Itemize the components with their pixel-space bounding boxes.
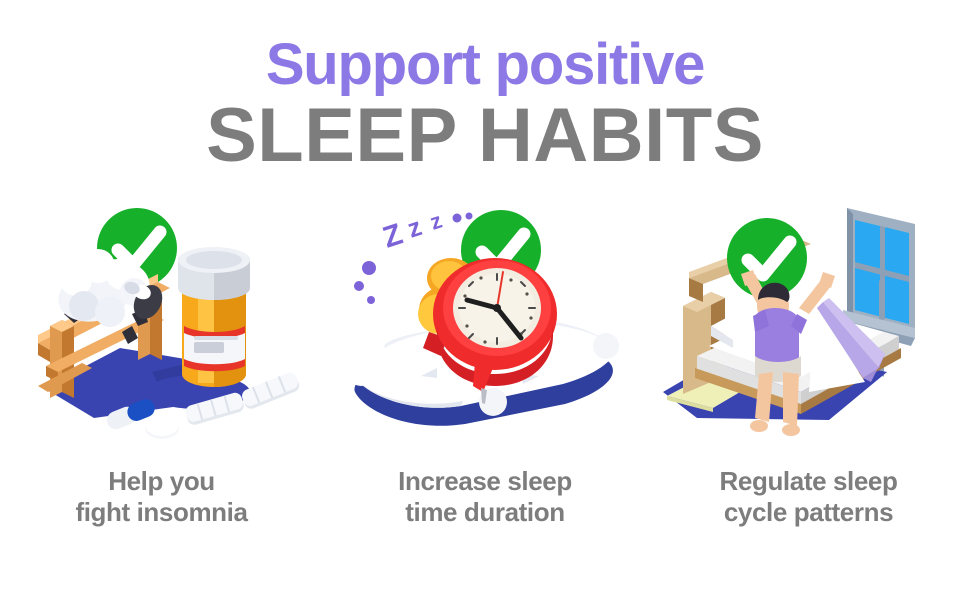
thought-dot-1 <box>362 261 376 275</box>
illustration-alarm-clock-pillow: Z z z <box>325 196 645 464</box>
infographic-poster: Support positive SLEEP HABITS <box>0 0 970 600</box>
caption-line-2: fight insomnia <box>12 497 312 528</box>
caption-sleep-cycle: Regulate sleep cycle patterns <box>659 466 959 528</box>
caption-line-1: Regulate sleep <box>659 466 959 497</box>
caption-sleep-duration: Increase sleep time duration <box>335 466 635 528</box>
thought-dot-3 <box>367 296 375 304</box>
caption-line-1: Increase sleep <box>335 466 635 497</box>
caption-line-2: time duration <box>335 497 635 528</box>
heading-line-2: SLEEP HABITS <box>0 98 970 174</box>
caption-line-1: Help you <box>12 466 312 497</box>
page-title: Support positive SLEEP HABITS <box>0 34 970 174</box>
zzz-dot-1 <box>453 214 462 223</box>
caption-line-2: cycle patterns <box>659 497 959 528</box>
zzz-letter-3: z <box>427 208 445 235</box>
panel-fight-insomnia: Help you fight insomnia <box>0 196 323 556</box>
panel-sleep-cycle: Regulate sleep cycle patterns <box>647 196 970 556</box>
pill-bottle <box>178 247 250 387</box>
zzz-letter-2: z <box>404 211 426 244</box>
caption-fight-insomnia: Help you fight insomnia <box>12 466 312 528</box>
illustration-person-waking-up <box>649 196 969 464</box>
benefit-panels: Help you fight insomnia <box>0 196 970 556</box>
heading-line-1: Support positive <box>0 34 970 96</box>
panel-sleep-duration: Z z z <box>324 196 647 556</box>
zzz-letter-1: Z <box>379 218 407 255</box>
zzz-dot-2 <box>466 213 473 220</box>
thought-dot-2 <box>354 281 364 291</box>
illustration-sheep-jumping-fence <box>2 196 322 464</box>
